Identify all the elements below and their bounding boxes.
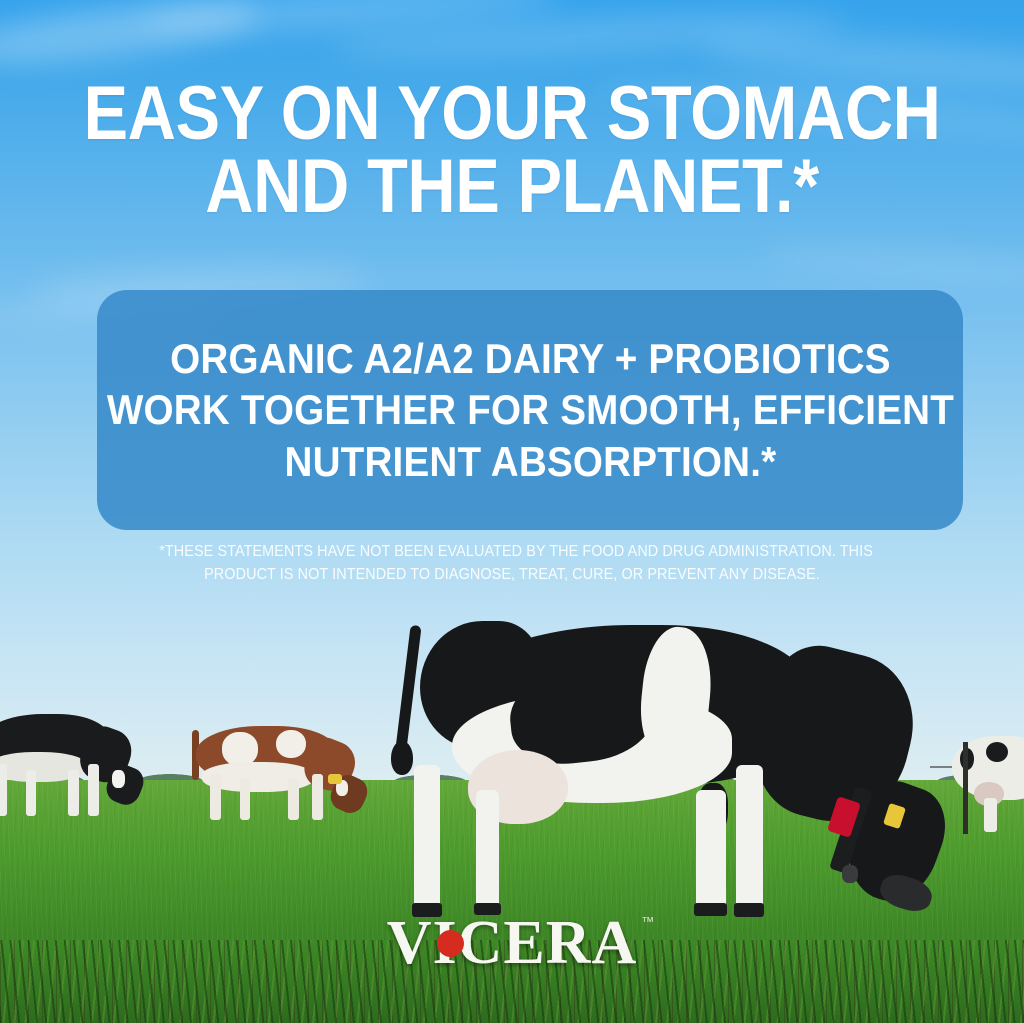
cow-leg — [0, 764, 7, 816]
cow-leg — [68, 770, 79, 816]
callout-card-text: ORGANIC A2/A2 DAIRY + PROBIOTICS WORK TO… — [106, 333, 953, 487]
cow-leg — [476, 790, 499, 910]
callout-line-3: NUTRIENT ABSORPTION.* — [106, 436, 953, 487]
cow-leg — [210, 774, 221, 820]
fda-disclaimer: *THESE STATEMENTS HAVE NOT BEEN EVALUATE… — [159, 540, 865, 586]
disclaimer-line-1: *THESE STATEMENTS HAVE NOT BEEN EVALUATE… — [159, 540, 865, 563]
cow-face-blaze — [112, 770, 125, 788]
cow-leg — [288, 778, 299, 820]
headline: EASY ON YOUR STOMACH AND THE PLANET.* — [61, 78, 962, 224]
callout-card: ORGANIC A2/A2 DAIRY + PROBIOTICS WORK TO… — [97, 290, 963, 530]
cow-patch — [986, 742, 1008, 762]
cow-collar-bell — [842, 865, 858, 883]
cow-patch — [276, 730, 306, 758]
cow-leg — [26, 770, 36, 816]
logo-inner: VICERA ™ — [387, 912, 638, 974]
logo-red-dot-icon — [437, 930, 464, 957]
cloud-wisp-icon — [759, 241, 1024, 288]
disclaimer-line-2: PRODUCT IS NOT INTENDED TO DIAGNOSE, TRE… — [159, 563, 865, 586]
cow-leg — [414, 765, 440, 910]
cow-leg — [696, 790, 726, 912]
trademark-symbol: ™ — [641, 914, 654, 929]
brand-logo[interactable]: VICERA ™ — [0, 912, 1024, 974]
callout-line-2: WORK TOGETHER FOR SMOOTH, EFFICIENT — [106, 384, 953, 435]
cow-leg — [984, 798, 997, 832]
cow-tail-tip — [391, 741, 413, 775]
cow-leg — [312, 774, 323, 820]
cow-leg — [240, 778, 250, 820]
logo-wordmark: VICERA — [387, 909, 638, 977]
background-cow-brown-white — [188, 722, 388, 822]
callout-line-1: ORGANIC A2/A2 DAIRY + PROBIOTICS — [106, 333, 953, 384]
fence-post — [963, 742, 968, 834]
cow-leg — [88, 764, 99, 816]
advertisement-banner: EASY ON YOUR STOMACH AND THE PLANET.* OR… — [0, 0, 1024, 1023]
cow-ear-tag — [328, 774, 342, 784]
cow-patch — [222, 732, 258, 766]
main-holstein-cow — [380, 615, 940, 920]
headline-line-1: EASY ON YOUR STOMACH — [61, 78, 962, 151]
headline-line-2: AND THE PLANET.* — [61, 151, 962, 224]
cow-leg — [736, 765, 763, 910]
background-cow-black-white — [0, 708, 160, 820]
